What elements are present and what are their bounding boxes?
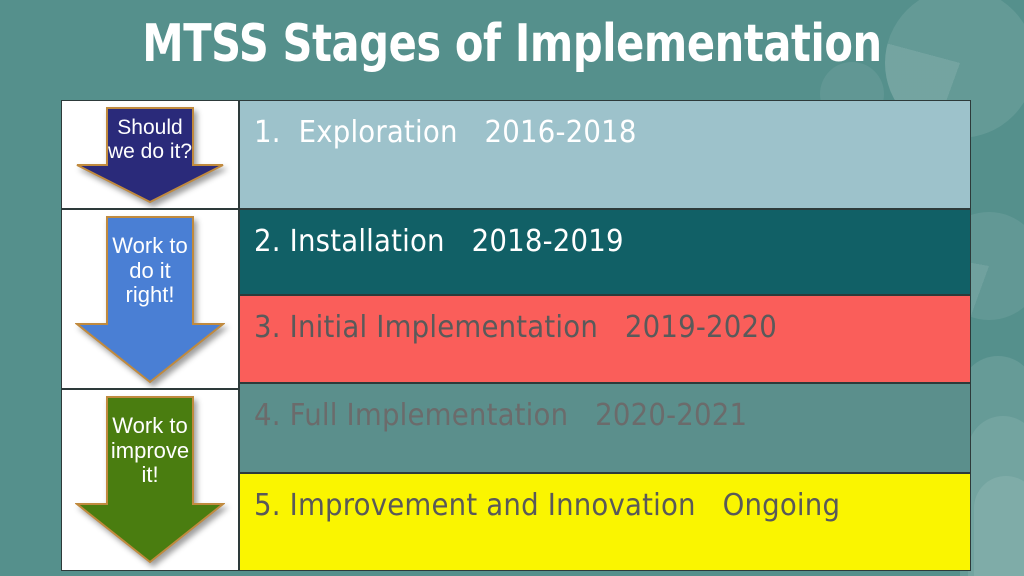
stage-row-3[interactable]: 3. Initial Implementation 2019-2020 <box>240 296 970 384</box>
arrow-label-2: Work to do it right! <box>75 216 225 308</box>
stage-label-1: 1. Exploration 2016-2018 <box>254 101 637 150</box>
stage-row-2[interactable]: 2. Installation 2018-2019 <box>240 210 970 296</box>
arrow-work-to-improve-it[interactable]: Work to improve it! <box>75 396 225 564</box>
stage-row-5[interactable]: 5. Improvement and Innovation Ongoing <box>240 474 970 570</box>
decorative-bar-3 <box>974 476 1024 576</box>
stage-row-1[interactable]: 1. Exploration 2016-2018 <box>240 101 970 210</box>
stage-label-3: 3. Initial Implementation 2019-2020 <box>254 296 777 345</box>
arrow-label-3: Work to improve it! <box>75 396 225 488</box>
slide-canvas: MTSS Stages of Implementation Should we … <box>0 0 1024 576</box>
arrow-cell-2: Work to do it right! <box>62 210 238 390</box>
arrow-label-1: Should we do it? <box>75 107 225 163</box>
stage-label-5: 5. Improvement and Innovation Ongoing <box>254 474 840 523</box>
page-title: MTSS Stages of Implementation <box>102 14 921 74</box>
stages-column: 1. Exploration 2016-2018 2. Installation… <box>240 101 970 570</box>
arrow-should-we-do-it[interactable]: Should we do it? <box>75 107 225 204</box>
stage-row-4[interactable]: 4. Full Implementation 2020-2021 <box>240 384 970 474</box>
stage-label-2: 2. Installation 2018-2019 <box>254 210 624 259</box>
decorative-bar-2 <box>968 416 1024 576</box>
arrow-column: Should we do it? Work to do it right! Wo… <box>62 101 240 570</box>
arrow-cell-3: Work to improve it! <box>62 390 238 570</box>
arrow-work-to-do-it-right[interactable]: Work to do it right! <box>75 216 225 384</box>
arrow-cell-1: Should we do it? <box>62 101 238 210</box>
stages-table: Should we do it? Work to do it right! Wo… <box>62 101 970 570</box>
stage-label-4: 4. Full Implementation 2020-2021 <box>254 384 747 433</box>
